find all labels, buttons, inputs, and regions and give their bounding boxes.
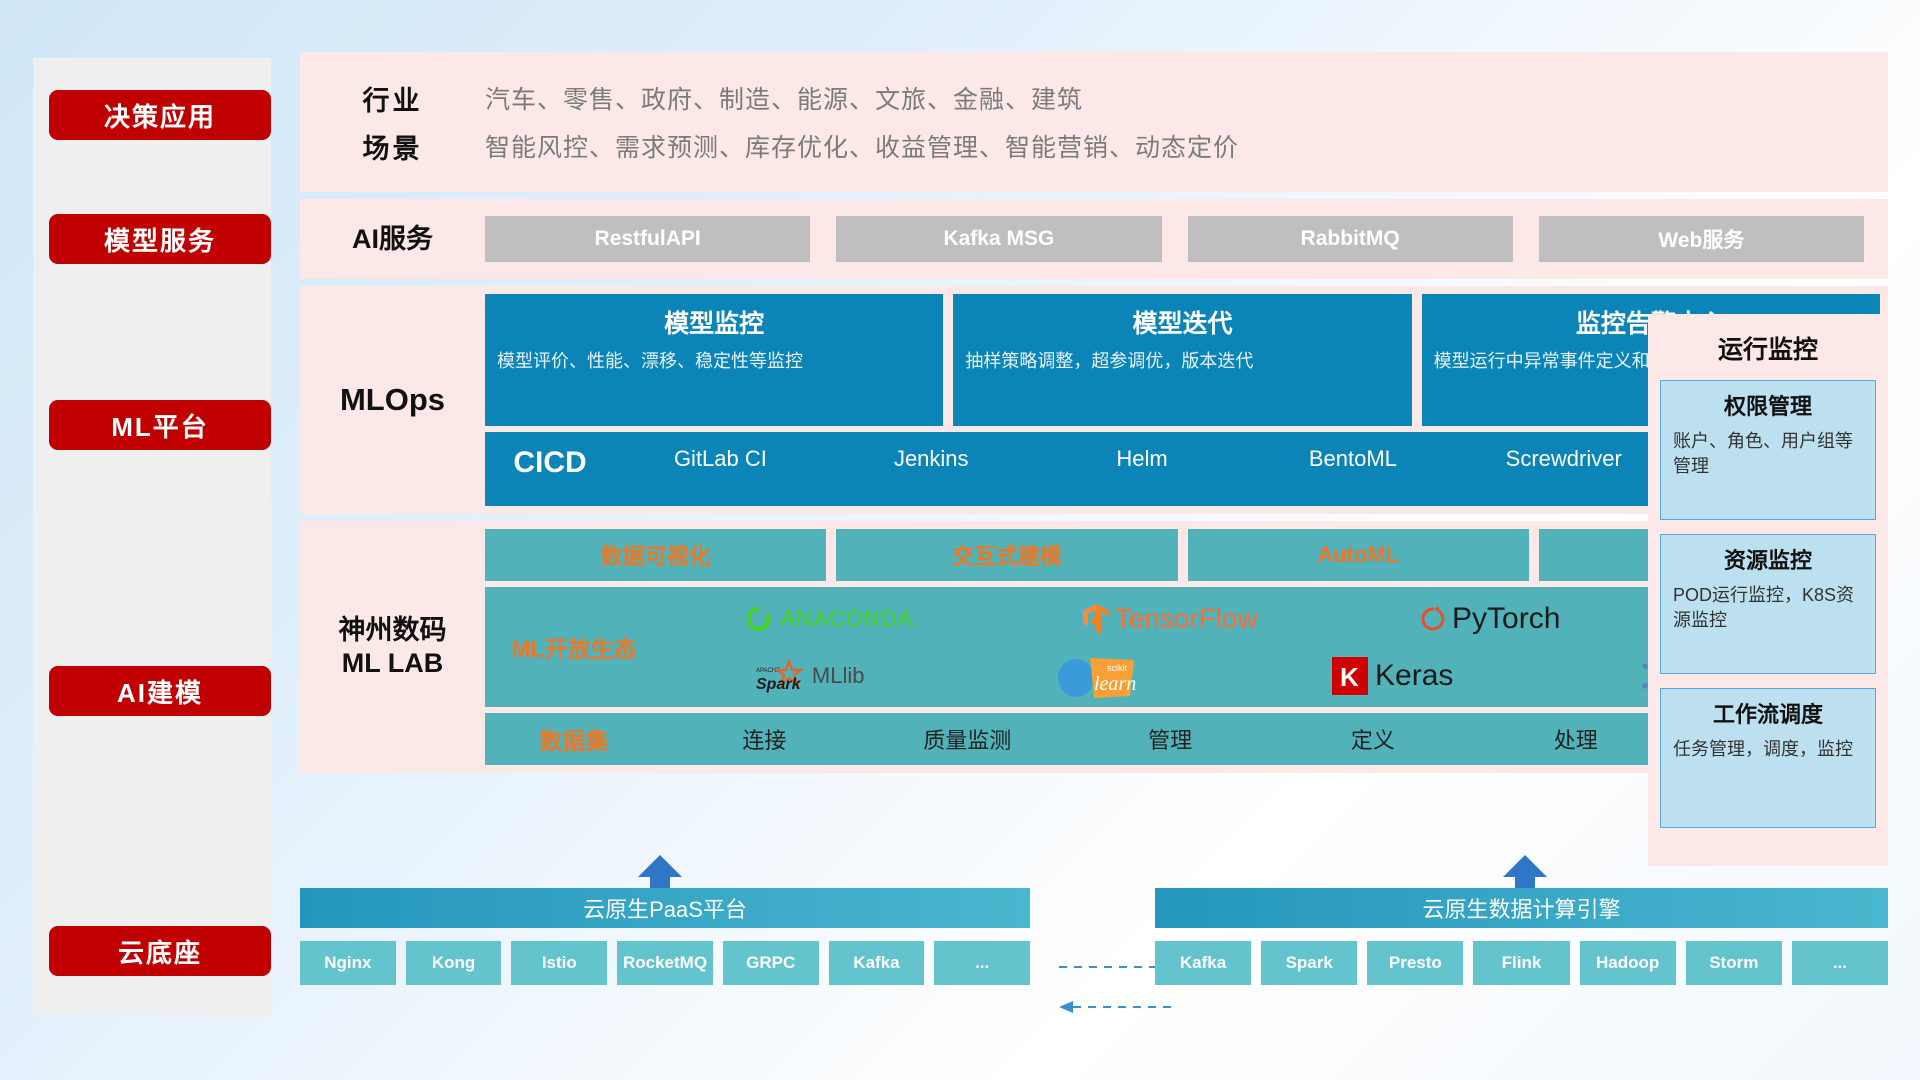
cloud-chip-rocketmq[interactable]: RocketMQ	[617, 941, 713, 985]
pytorch-icon	[1419, 604, 1447, 634]
dataset-item-quality[interactable]: 质量监测	[866, 723, 1069, 755]
ai-service-chip-list: RestfulAPI Kafka MSG RabbitMQ Web服务	[485, 216, 1864, 262]
card-title: 工作流调度	[1673, 697, 1863, 729]
ml-open-ecosystem-label: ML开放生态	[485, 630, 663, 664]
cloud-chip-nginx[interactable]: Nginx	[300, 941, 396, 985]
dataset-item-connect[interactable]: 连接	[663, 723, 866, 755]
scikit-learn-logo: scikit learn	[1050, 652, 1146, 700]
tool-interactive-modeling[interactable]: 交互式建模	[836, 529, 1177, 581]
svg-text:Spark: Spark	[756, 676, 802, 693]
rail-item-ai-modeling[interactable]: AI建模	[49, 666, 271, 716]
monitor-card-workflow[interactable]: 工作流调度 任务管理，调度，监控	[1660, 688, 1876, 828]
cicd-item-screwdriver[interactable]: Screwdriver	[1458, 446, 1669, 471]
card-title: 模型迭代	[965, 304, 1399, 340]
card-title: 权限管理	[1673, 389, 1863, 421]
cloud-chip-istio[interactable]: Istio	[511, 941, 607, 985]
tensorflow-icon	[1082, 603, 1110, 635]
svg-text:scikit: scikit	[1107, 663, 1127, 673]
cloud-paas-chip-list: Nginx Kong Istio RocketMQ GRPC Kafka ...	[300, 941, 1030, 985]
compute-chip-storm[interactable]: Storm	[1686, 941, 1782, 985]
cicd-item-jenkins[interactable]: Jenkins	[826, 446, 1037, 471]
ai-service-chip-web-service[interactable]: Web服务	[1539, 216, 1864, 262]
svg-text:learn: learn	[1094, 673, 1136, 695]
rail-item-decision-app[interactable]: 决策应用	[49, 90, 271, 140]
compute-chip-spark[interactable]: Spark	[1261, 941, 1357, 985]
mlops-card-model-monitoring[interactable]: 模型监控 模型评价、性能、漂移、稳定性等监控	[485, 294, 943, 426]
rail-item-ml-platform[interactable]: ML平台	[49, 400, 271, 450]
spark-icon: APACHE Spark	[756, 659, 806, 693]
diagram-root: 决策应用 模型服务 ML平台 AI建模 云底座 行业 场景 汽车、零售、政府、制…	[0, 0, 1920, 1080]
tensorflow-label: TensorFlow	[1115, 603, 1258, 635]
tensorflow-logo: TensorFlow	[1082, 603, 1258, 635]
compute-chip-kafka[interactable]: Kafka	[1155, 941, 1251, 985]
dataset-tag: 数据集	[485, 722, 663, 756]
cicd-item-helm[interactable]: Helm	[1037, 446, 1248, 471]
cloud-compute-group: 云原生数据计算引擎 Kafka Spark Presto Flink Hadoo…	[1155, 888, 1888, 985]
cloud-chip-grpc[interactable]: GRPC	[723, 941, 819, 985]
dataset-item-manage[interactable]: 管理	[1069, 723, 1272, 755]
label-industry: 行业	[300, 79, 485, 118]
cloud-paas-group: 云原生PaaS平台 Nginx Kong Istio RocketMQ GRPC…	[300, 888, 1030, 985]
cloud-compute-chip-list: Kafka Spark Presto Flink Hadoop Storm ..…	[1155, 941, 1888, 985]
cicd-item-bentoml[interactable]: BentoML	[1247, 446, 1458, 471]
spark-mllib-logo: APACHE Spark MLlib	[756, 659, 865, 693]
card-desc: 抽样策略调整，超参调优，版本迭代	[965, 349, 1399, 373]
compute-chip-hadoop[interactable]: Hadoop	[1580, 941, 1676, 985]
tool-automl[interactable]: AutoML	[1188, 529, 1529, 581]
compute-chip-presto[interactable]: Presto	[1367, 941, 1463, 985]
card-desc: 任务管理，调度，监控	[1673, 737, 1863, 762]
rail-item-model-service[interactable]: 模型服务	[49, 214, 271, 264]
industry-scenario-values: 汽车、零售、政府、制造、能源、文旅、金融、建筑 智能风控、需求预测、库存优化、收…	[485, 74, 1239, 170]
rail-label: ML平台	[111, 407, 209, 444]
ml-lab-label-line1: 神州数码	[339, 614, 447, 647]
anaconda-icon	[744, 604, 774, 634]
rail-item-cloud-base[interactable]: 云底座	[49, 926, 271, 976]
cicd-tag: CICD	[485, 446, 615, 480]
label-scenario: 场景	[300, 127, 485, 166]
svg-text:K: K	[1340, 662, 1359, 692]
ai-service-label: AI服务	[300, 223, 485, 256]
keras-icon: K	[1332, 657, 1368, 695]
ml-lab-label: 神州数码 ML LAB	[300, 521, 485, 773]
rail-label: 决策应用	[104, 97, 216, 134]
cloud-foundation: 云原生PaaS平台 Nginx Kong Istio RocketMQ GRPC…	[300, 888, 1888, 1038]
monitor-card-permission[interactable]: 权限管理 账户、角色、用户组等管理	[1660, 380, 1876, 520]
ai-service-chip-rabbitmq[interactable]: RabbitMQ	[1188, 216, 1513, 262]
keras-logo: K Keras	[1332, 657, 1453, 695]
tool-data-visualization[interactable]: 数据可视化	[485, 529, 826, 581]
runtime-monitoring-panel: 运行监控 权限管理 账户、角色、用户组等管理 资源监控 POD运行监控，K8S资…	[1648, 314, 1888, 866]
mllib-label: MLlib	[812, 663, 865, 689]
anaconda-label: ANACONDA.	[781, 606, 921, 632]
pytorch-label: PyTorch	[1452, 602, 1560, 636]
card-desc: 账户、角色、用户组等管理	[1673, 429, 1863, 479]
pytorch-logo: PyTorch	[1419, 602, 1560, 636]
ai-service-chip-kafka-msg[interactable]: Kafka MSG	[836, 216, 1161, 262]
card-title: 资源监控	[1673, 543, 1863, 575]
rail-label: 云底座	[118, 933, 202, 970]
rail-label: 模型服务	[104, 221, 216, 258]
cloud-chip-more[interactable]: ...	[934, 941, 1030, 985]
cloud-chip-kafka[interactable]: Kafka	[829, 941, 925, 985]
cloud-chip-kong[interactable]: Kong	[406, 941, 502, 985]
compute-chip-more[interactable]: ...	[1792, 941, 1888, 985]
cloud-paas-bar[interactable]: 云原生PaaS平台	[300, 888, 1030, 928]
ai-service-chip-restfulapi[interactable]: RestfulAPI	[485, 216, 810, 262]
left-rail	[33, 58, 271, 1016]
industry-values: 汽车、零售、政府、制造、能源、文旅、金融、建筑	[485, 80, 1239, 116]
cloud-compute-bar[interactable]: 云原生数据计算引擎	[1155, 888, 1888, 928]
runtime-monitoring-title: 运行监控	[1660, 330, 1876, 366]
compute-chip-flink[interactable]: Flink	[1473, 941, 1569, 985]
scikit-learn-icon: scikit learn	[1050, 652, 1146, 700]
band-ai-service: AI服务 RestfulAPI Kafka MSG RabbitMQ Web服务	[300, 199, 1888, 279]
dataset-item-define[interactable]: 定义	[1271, 723, 1474, 755]
card-desc: POD运行监控，K8S资源监控	[1673, 583, 1863, 633]
band-industry-scenario: 行业 场景 汽车、零售、政府、制造、能源、文旅、金融、建筑 智能风控、需求预测、…	[300, 52, 1888, 192]
keras-label: Keras	[1375, 659, 1453, 693]
cicd-item-gitlab-ci[interactable]: GitLab CI	[615, 446, 826, 471]
mlops-label: MLOps	[300, 286, 485, 514]
rail-label: AI建模	[117, 673, 203, 710]
scenario-values: 智能风控、需求预测、库存优化、收益管理、智能营销、动态定价	[485, 128, 1239, 164]
mlops-card-model-iteration[interactable]: 模型迭代 抽样策略调整，超参调优，版本迭代	[953, 294, 1411, 426]
anaconda-logo: ANACONDA.	[744, 604, 921, 634]
dataset-item-process[interactable]: 处理	[1474, 723, 1677, 755]
industry-scenario-labels: 行业 场景	[300, 74, 485, 170]
card-desc: 模型评价、性能、漂移、稳定性等监控	[497, 349, 931, 373]
monitor-card-resource[interactable]: 资源监控 POD运行监控，K8S资源监控	[1660, 534, 1876, 674]
ml-lab-label-line2: ML LAB	[339, 647, 447, 680]
card-title: 模型监控	[497, 304, 931, 340]
